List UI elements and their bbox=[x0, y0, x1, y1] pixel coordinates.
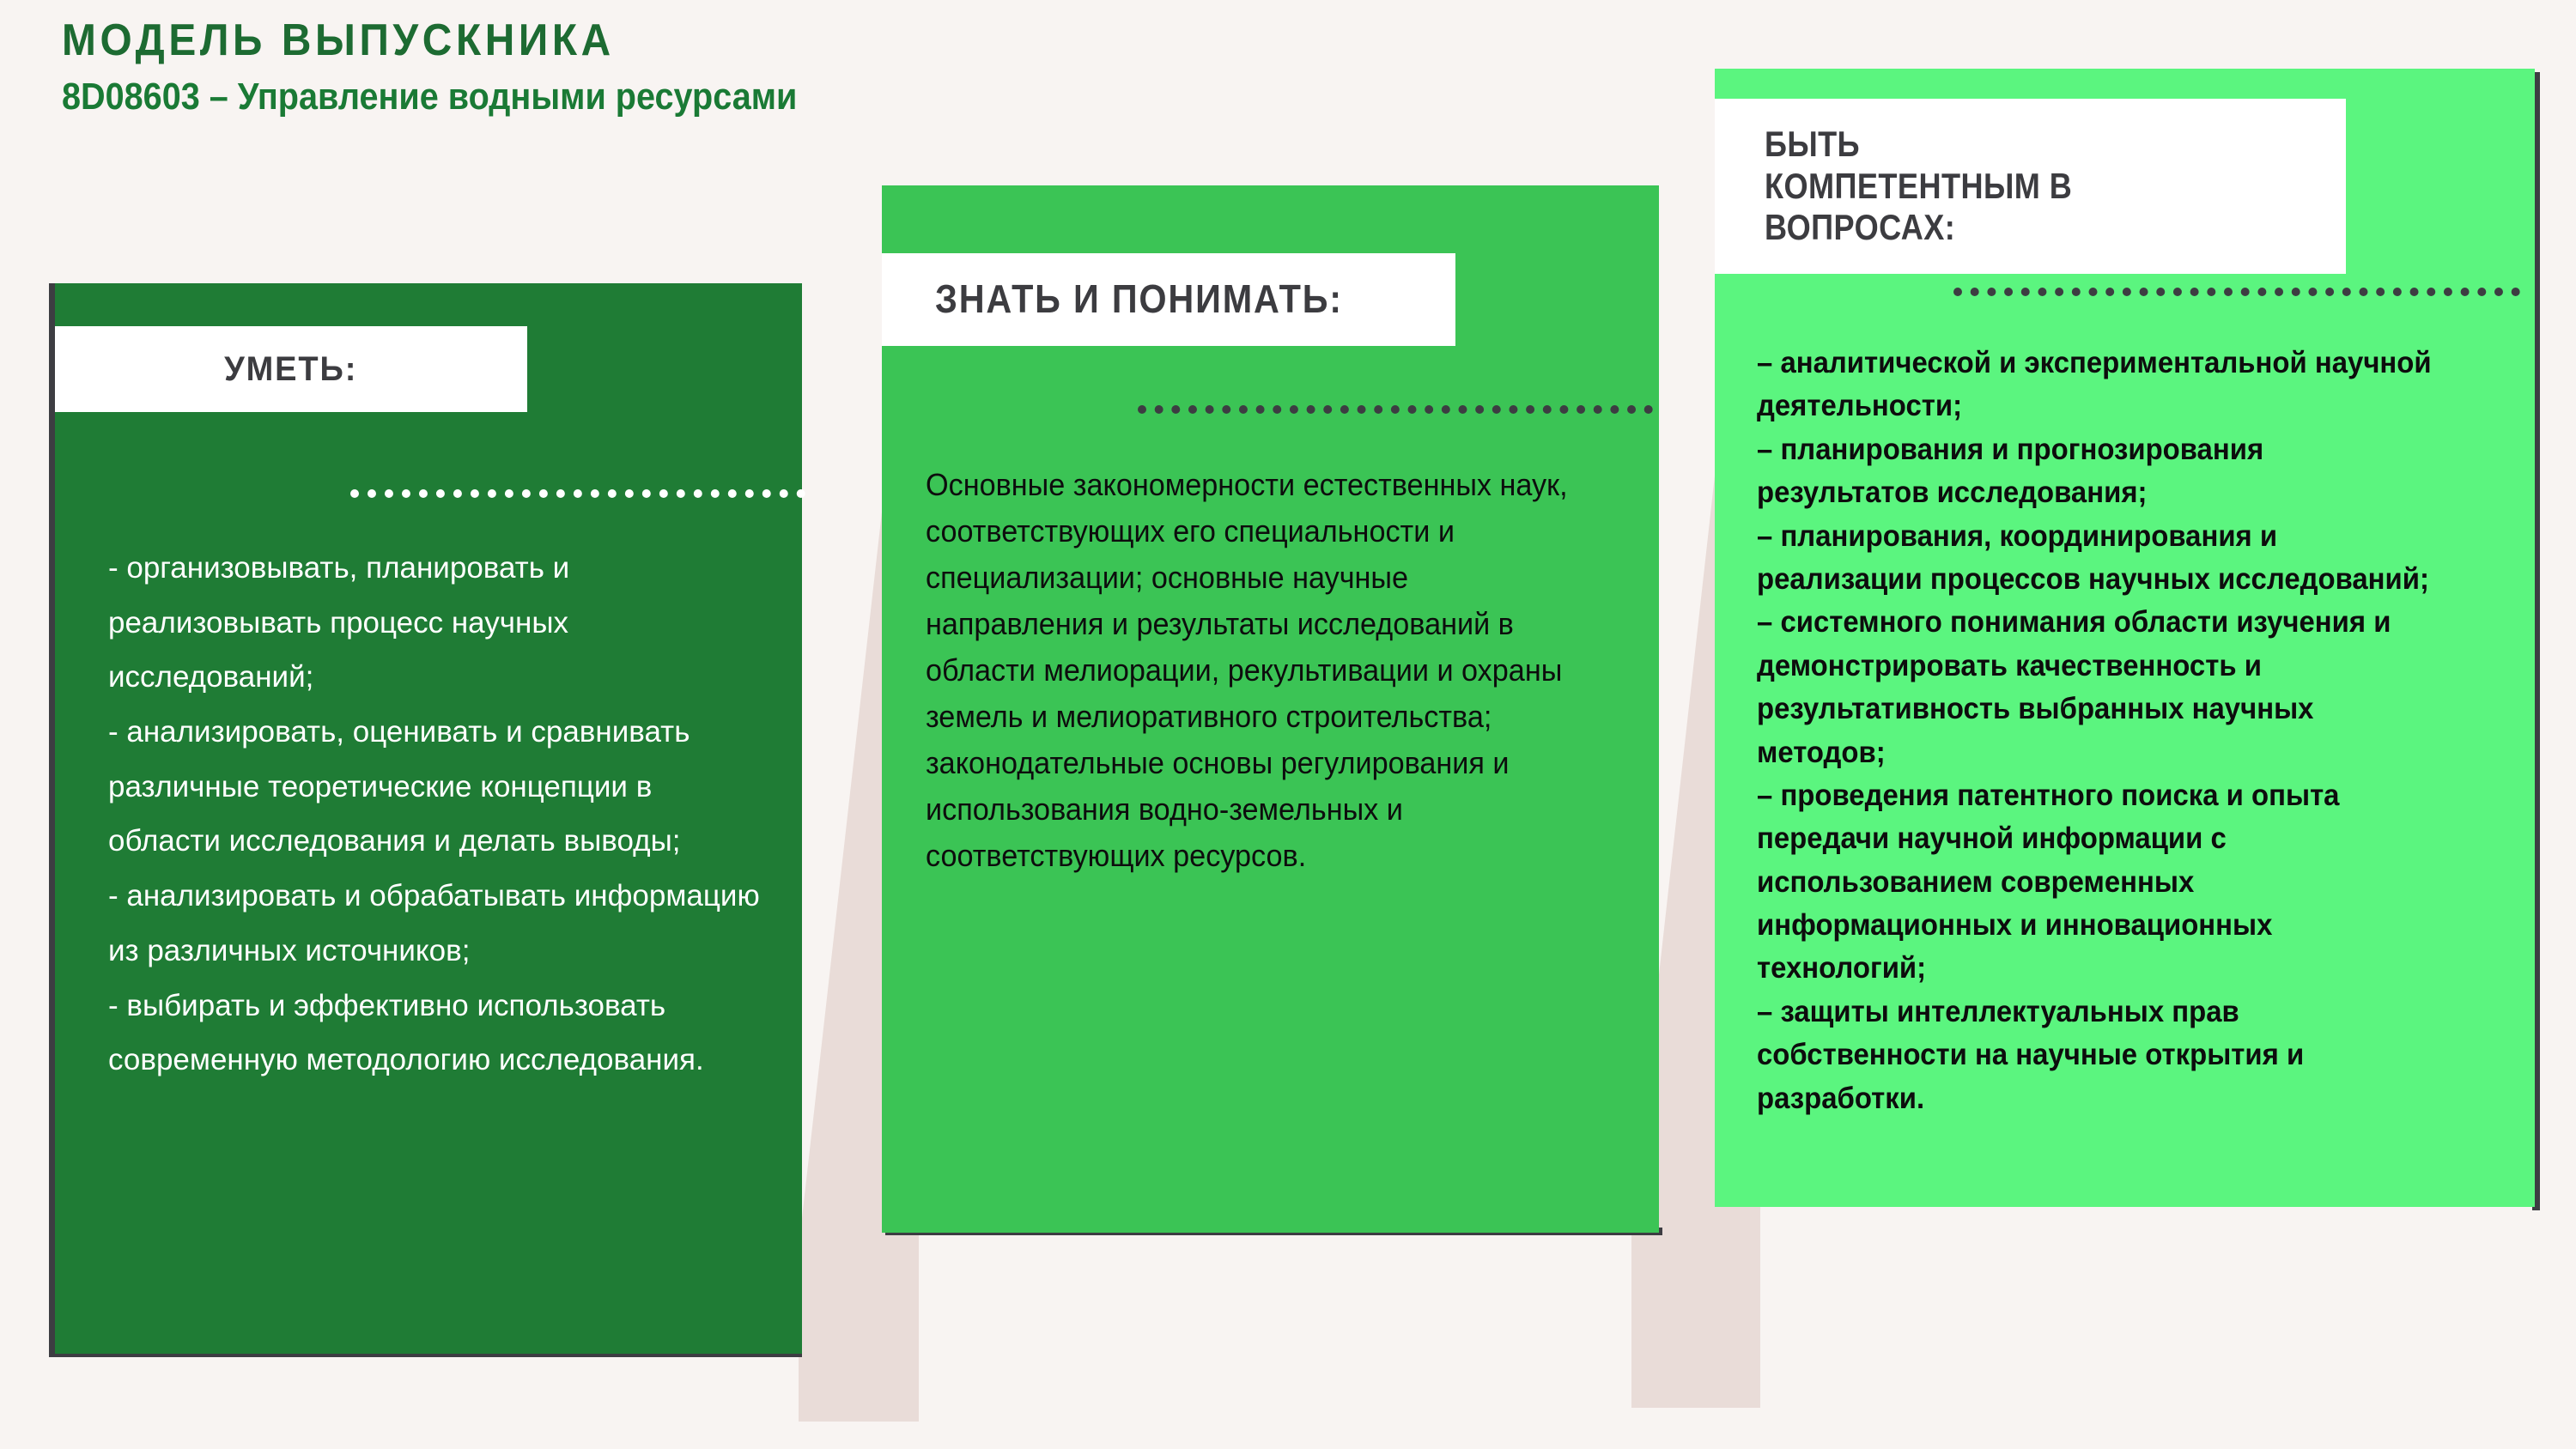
column-body-znat: Основные закономерности естественных нау… bbox=[926, 462, 1571, 879]
title-block: МОДЕЛЬ ВЫПУСКНИКА 8D08603 – Управление в… bbox=[62, 15, 1350, 118]
page-subtitle: 8D08603 – Управление водными ресурсами bbox=[62, 76, 1221, 118]
column-header-card-umet: УМЕТЬ: bbox=[55, 326, 527, 412]
column-header-label-kompetentnym: БЫТЬ КОМПЕТЕНТНЫМ В ВОПРОСАХ: bbox=[1765, 124, 2072, 249]
column-body-umet: - организовывать, планировать и реализов… bbox=[108, 541, 761, 1088]
page-title: МОДЕЛЬ ВЫПУСКНИКА bbox=[62, 15, 1247, 67]
column-body-kompetentnym: – аналитической и экспериментальной науч… bbox=[1757, 342, 2443, 1120]
column-header-label-znat: ЗНАТЬ И ПОНИМАТЬ: bbox=[935, 276, 1343, 322]
column-header-card-kompetentnym: БЫТЬ КОМПЕТЕНТНЫМ В ВОПРОСАХ: bbox=[1715, 99, 2346, 274]
dotted-divider-kompetentnym bbox=[1953, 288, 2520, 296]
dotted-divider-znat bbox=[1138, 405, 1653, 414]
dotted-divider-umet bbox=[350, 489, 805, 498]
column-header-label-umet: УМЕТЬ: bbox=[224, 349, 357, 389]
column-header-card-znat: ЗНАТЬ И ПОНИМАТЬ: bbox=[882, 253, 1455, 346]
